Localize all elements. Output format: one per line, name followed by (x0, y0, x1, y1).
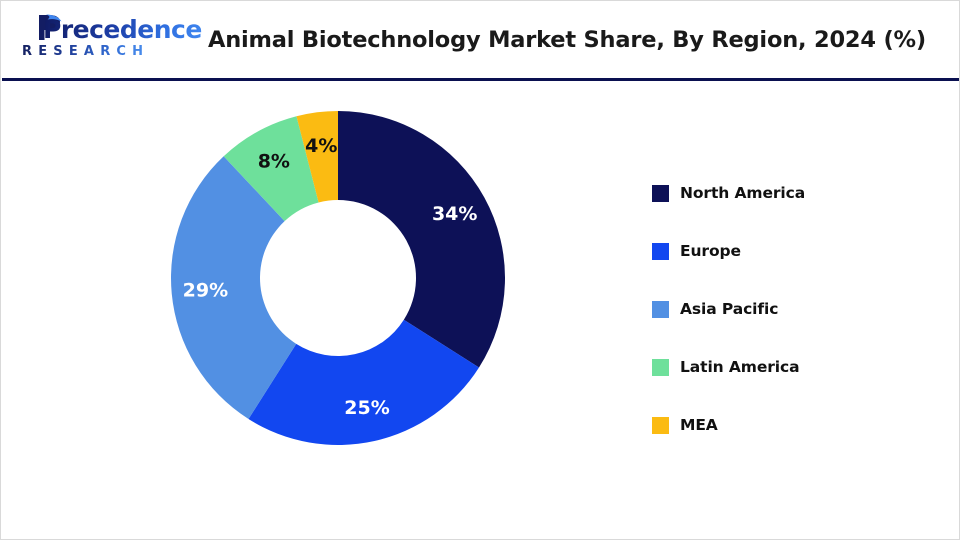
donut-slice-label: 29% (183, 280, 228, 302)
page-title: Animal Biotechnology Market Share, By Re… (187, 27, 947, 53)
legend-item-europe[interactable]: Europe (652, 222, 912, 280)
legend-label: Asia Pacific (680, 300, 778, 318)
donut-slice-label: 34% (432, 203, 477, 225)
donut-slice-label: 4% (305, 135, 337, 157)
legend-swatch-icon (652, 417, 669, 434)
legend-label: Latin America (680, 358, 799, 376)
precedence-research-logo: Precedence RESEARCH (15, 13, 175, 69)
legend-label: North America (680, 184, 805, 202)
donut-slice-group (171, 111, 505, 445)
logo-wordmark: Precedence (43, 15, 202, 44)
logo-subtext: RESEARCH (22, 44, 149, 59)
legend-item-north-america[interactable]: North America (652, 164, 912, 222)
chart-body: 34%25%29%8%4% North America Europe Asia … (1, 81, 960, 540)
legend-label: MEA (680, 416, 718, 434)
legend-swatch-icon (652, 185, 669, 202)
donut-chart: 34%25%29%8%4% (171, 111, 505, 451)
chart-card: Precedence RESEARCH Animal Biotechnology… (0, 0, 960, 540)
legend-item-asia-pacific[interactable]: Asia Pacific (652, 280, 912, 338)
legend-item-mea[interactable]: MEA (652, 396, 912, 454)
donut-slice-label: 8% (258, 150, 290, 172)
card-header: Precedence RESEARCH Animal Biotechnology… (1, 1, 960, 80)
chart-legend: North America Europe Asia Pacific Latin … (652, 164, 912, 454)
donut-slice-label: 25% (344, 397, 389, 419)
legend-swatch-icon (652, 301, 669, 318)
legend-swatch-icon (652, 359, 669, 376)
legend-swatch-icon (652, 243, 669, 260)
donut-slice[interactable] (338, 111, 505, 367)
donut-chart-svg: 34%25%29%8%4% (171, 111, 505, 451)
legend-label: Europe (680, 242, 741, 260)
legend-item-latin-america[interactable]: Latin America (652, 338, 912, 396)
